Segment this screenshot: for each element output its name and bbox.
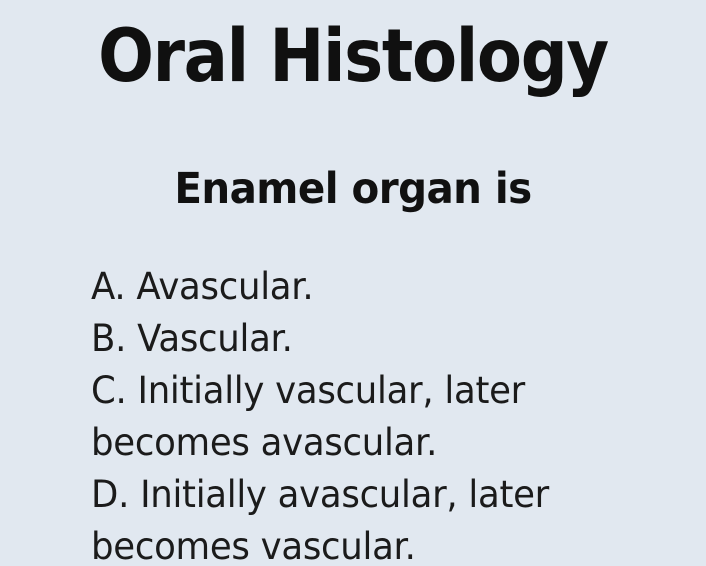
list-item-continuation: becomes vascular. (91, 521, 648, 566)
list-item: B. Vascular. (91, 313, 648, 365)
list-item: D. Initially avascular, later (91, 469, 648, 521)
page-title: Oral Histology (35, 14, 670, 100)
list-item: C. Initially vascular, later (91, 365, 648, 417)
question-text: Enamel organ is (21, 162, 685, 216)
list-item-continuation: becomes avascular. (91, 417, 648, 469)
answer-options-list: A. Avascular. B. Vascular. C. Initially … (91, 261, 648, 566)
quiz-slide: Oral Histology Enamel organ is A. Avascu… (0, 0, 706, 566)
list-item: A. Avascular. (91, 261, 648, 313)
